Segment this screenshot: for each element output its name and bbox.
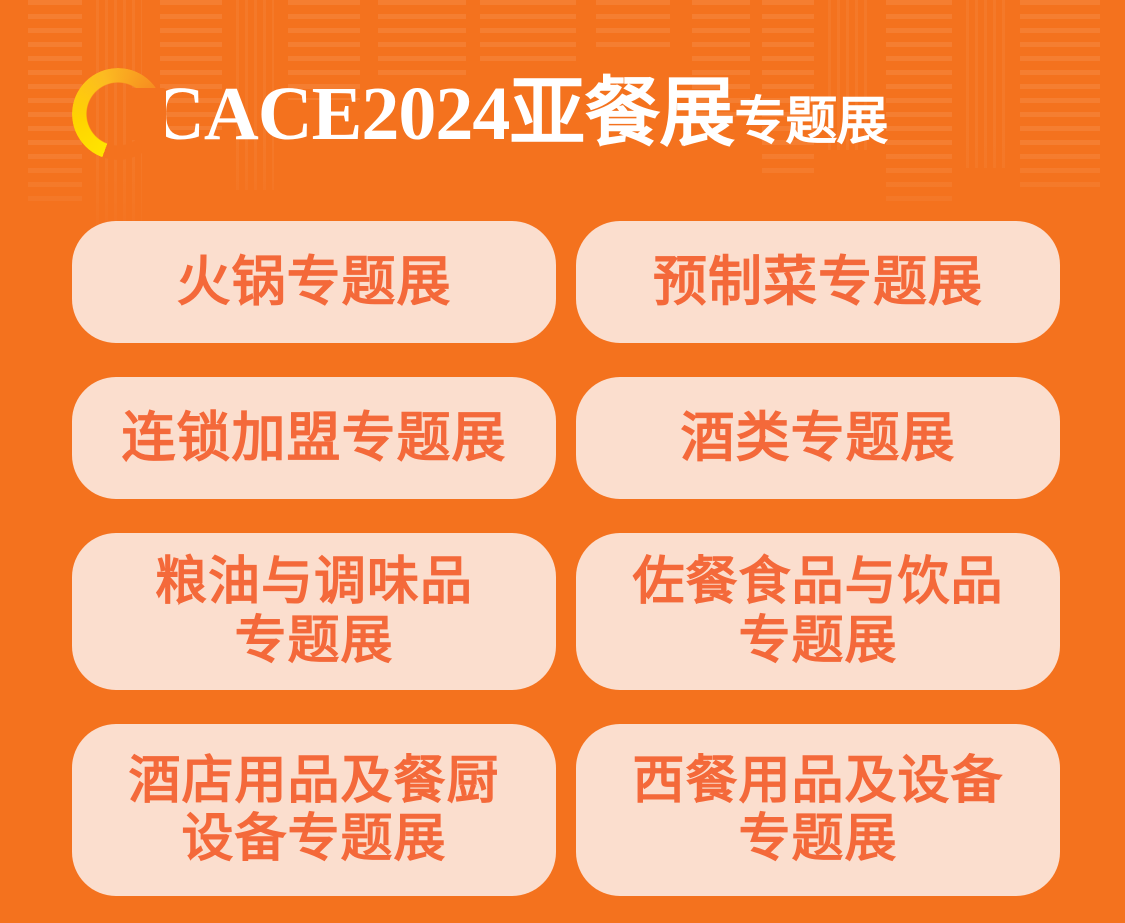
- topic-card-label: 预制菜专题展: [653, 252, 983, 312]
- topic-card-label: 酒类专题展: [681, 408, 956, 468]
- topic-card-hotpot[interactable]: 火锅专题展: [72, 221, 556, 343]
- topic-card-label: 西餐用品及设备 专题展: [632, 752, 1003, 868]
- poster-header: CACE2024亚餐展专题展: [72, 68, 887, 160]
- topic-card-grid: 火锅专题展 预制菜专题展 连锁加盟专题展 酒类专题展 粮油与调味品 专题展 佐餐…: [72, 221, 1060, 896]
- topic-card-label: 酒店用品及餐厨 设备专题展: [128, 752, 499, 868]
- topic-card-label: 佐餐食品与饮品 专题展: [632, 553, 1003, 669]
- c-ring-logo-icon: [72, 68, 164, 160]
- topic-card-franchise[interactable]: 连锁加盟专题展: [72, 377, 556, 499]
- topic-card-hotel-kitchen-equipment[interactable]: 酒店用品及餐厨 设备专题展: [72, 724, 556, 896]
- topic-card-side-dishes-beverages[interactable]: 佐餐食品与饮品 专题展: [576, 533, 1060, 690]
- topic-card-grain-oil-seasoning[interactable]: 粮油与调味品 专题展: [72, 533, 556, 690]
- topic-card-western-supplies-equipment[interactable]: 西餐用品及设备 专题展: [576, 724, 1060, 896]
- exhibition-topic-poster: CACE2024亚餐展专题展 火锅专题展 预制菜专题展 连锁加盟专题展 酒类专题…: [0, 0, 1125, 923]
- topic-card-prepared-dishes[interactable]: 预制菜专题展: [576, 221, 1060, 343]
- title-main-text: CACE2024亚餐展: [150, 72, 734, 156]
- topic-card-label: 火锅专题展: [177, 252, 452, 312]
- title-sub-text: 专题展: [734, 94, 887, 151]
- topic-card-alcohol[interactable]: 酒类专题展: [576, 377, 1060, 499]
- page-title: CACE2024亚餐展专题展: [150, 76, 887, 152]
- topic-card-label: 粮油与调味品 专题展: [155, 553, 473, 669]
- topic-card-label: 连锁加盟专题展: [122, 408, 507, 468]
